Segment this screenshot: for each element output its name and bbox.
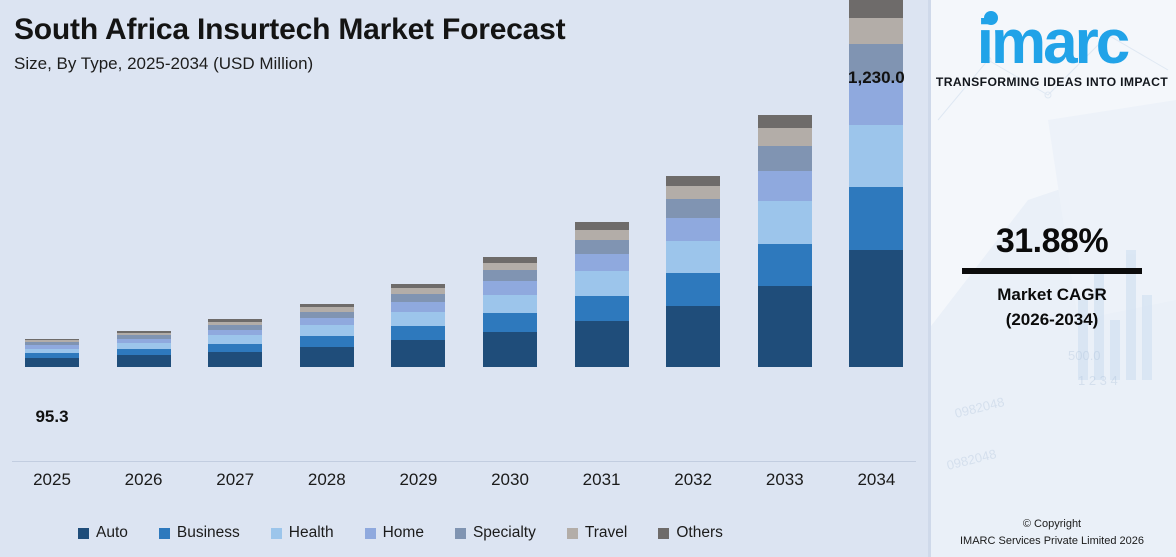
bar-segment-home[interactable] xyxy=(758,171,812,201)
bar-segment-health[interactable] xyxy=(849,125,903,187)
legend-label: Home xyxy=(383,524,424,542)
copyright-line-2: IMARC Services Private Limited 2026 xyxy=(928,533,1176,550)
bar-segment-auto[interactable] xyxy=(300,347,354,367)
legend-item-auto[interactable]: Auto xyxy=(78,524,128,542)
chart-legend: AutoBusinessHealthHomeSpecialtyTravelOth… xyxy=(0,516,928,550)
logo-text: imarc xyxy=(977,8,1127,77)
brand-panel: 0982048 0982048 1 2 3 4 500.0 imarc TRAN… xyxy=(928,0,1176,557)
bar-segment-specialty[interactable] xyxy=(483,270,537,281)
copyright-notice: © Copyright IMARC Services Private Limit… xyxy=(928,516,1176,549)
legend-item-home[interactable]: Home xyxy=(365,524,424,542)
legend-label: Specialty xyxy=(473,524,536,542)
bar-value-label-2034: 1,230.0 xyxy=(816,68,936,88)
legend-swatch-icon xyxy=(567,528,578,539)
legend-item-others[interactable]: Others xyxy=(658,524,723,542)
bar-segment-travel[interactable] xyxy=(575,230,629,240)
bar-segment-health[interactable] xyxy=(758,201,812,244)
bar-segment-business[interactable] xyxy=(391,326,445,340)
bar-stack-2030[interactable] xyxy=(483,257,537,367)
bar-segment-travel[interactable] xyxy=(483,263,537,271)
bar-stack-2027[interactable] xyxy=(208,319,262,367)
bar-segment-travel[interactable] xyxy=(666,186,720,199)
bar-segment-business[interactable] xyxy=(849,187,903,249)
bar-segment-home[interactable] xyxy=(300,318,354,326)
bar-segment-specialty[interactable] xyxy=(391,294,445,302)
bar-stack-2033[interactable] xyxy=(758,115,812,367)
bar-segment-specialty[interactable] xyxy=(575,240,629,254)
bar-segment-health[interactable] xyxy=(575,271,629,296)
legend-label: Others xyxy=(676,524,723,542)
bar-segment-auto[interactable] xyxy=(208,352,262,367)
bar-stack-2034[interactable] xyxy=(849,0,903,367)
bar-segment-health[interactable] xyxy=(208,335,262,343)
cagr-value: 31.88% xyxy=(928,222,1176,261)
legend-swatch-icon xyxy=(365,528,376,539)
bar-segment-home[interactable] xyxy=(666,218,720,241)
cagr-label: Market CAGR xyxy=(928,283,1176,308)
bar-segment-others[interactable] xyxy=(575,222,629,229)
legend-swatch-icon xyxy=(78,528,89,539)
bar-stack-2026[interactable] xyxy=(117,331,171,367)
legend-item-health[interactable]: Health xyxy=(271,524,334,542)
bar-segment-business[interactable] xyxy=(575,296,629,321)
bar-segment-specialty[interactable] xyxy=(758,146,812,171)
legend-label: Travel xyxy=(585,524,628,542)
copyright-line-1: © Copyright xyxy=(928,516,1176,533)
x-axis-line xyxy=(12,461,916,462)
bar-segment-health[interactable] xyxy=(300,325,354,336)
legend-item-travel[interactable]: Travel xyxy=(567,524,628,542)
bar-segment-others[interactable] xyxy=(666,176,720,186)
chart-screenshot: South Africa Insurtech Market Forecast S… xyxy=(0,0,1176,557)
svg-text:500.0: 500.0 xyxy=(1068,348,1101,363)
bar-segment-auto[interactable] xyxy=(25,358,79,367)
legend-swatch-icon xyxy=(271,528,282,539)
bar-segment-auto[interactable] xyxy=(666,306,720,367)
bar-segment-health[interactable] xyxy=(483,295,537,314)
bar-segment-health[interactable] xyxy=(391,312,445,326)
legend-label: Business xyxy=(177,524,240,542)
legend-label: Auto xyxy=(96,524,128,542)
bar-value-label-2025: 95.3 xyxy=(0,407,112,427)
bar-segment-others[interactable] xyxy=(849,0,903,18)
bar-stack-2028[interactable] xyxy=(300,304,354,367)
legend-item-business[interactable]: Business xyxy=(159,524,240,542)
chart-panel: South Africa Insurtech Market Forecast S… xyxy=(0,0,928,557)
x-axis-label-2034: 2034 xyxy=(816,470,936,490)
legend-swatch-icon xyxy=(455,528,466,539)
bar-segment-business[interactable] xyxy=(300,336,354,347)
bar-segment-home[interactable] xyxy=(483,281,537,294)
bar-stack-2025[interactable] xyxy=(25,339,79,367)
legend-item-specialty[interactable]: Specialty xyxy=(455,524,536,542)
bar-segment-travel[interactable] xyxy=(849,18,903,44)
bar-segment-auto[interactable] xyxy=(758,286,812,367)
bar-segment-auto[interactable] xyxy=(117,355,171,367)
bar-segment-business[interactable] xyxy=(208,344,262,352)
bar-segment-business[interactable] xyxy=(758,244,812,287)
bar-segment-travel[interactable] xyxy=(758,128,812,146)
bar-segment-business[interactable] xyxy=(483,313,537,332)
cagr-block: 31.88% Market CAGR (2026-2034) xyxy=(928,222,1176,332)
cagr-period: (2026-2034) xyxy=(928,308,1176,333)
bar-segment-auto[interactable] xyxy=(849,250,903,367)
plot-area xyxy=(0,0,928,462)
bar-segment-home[interactable] xyxy=(391,302,445,312)
bar-segment-auto[interactable] xyxy=(575,321,629,367)
bar-segment-specialty[interactable] xyxy=(666,199,720,218)
legend-label: Health xyxy=(289,524,334,542)
logo-wordmark: imarc xyxy=(977,14,1127,73)
bar-segment-health[interactable] xyxy=(666,241,720,273)
cagr-divider xyxy=(962,268,1142,274)
bar-segment-business[interactable] xyxy=(666,273,720,305)
svg-text:1 2 3 4: 1 2 3 4 xyxy=(1078,373,1118,388)
legend-swatch-icon xyxy=(159,528,170,539)
bar-stack-2029[interactable] xyxy=(391,284,445,367)
legend-swatch-icon xyxy=(658,528,669,539)
imarc-dot-icon xyxy=(983,10,999,26)
bar-segment-home[interactable] xyxy=(575,254,629,271)
bar-stack-2031[interactable] xyxy=(575,222,629,367)
imarc-logo: imarc TRANSFORMING IDEAS INTO IMPACT xyxy=(928,14,1176,89)
bar-segment-auto[interactable] xyxy=(391,340,445,367)
bar-stack-2032[interactable] xyxy=(666,176,720,367)
bar-segment-others[interactable] xyxy=(758,115,812,128)
bar-segment-auto[interactable] xyxy=(483,332,537,367)
